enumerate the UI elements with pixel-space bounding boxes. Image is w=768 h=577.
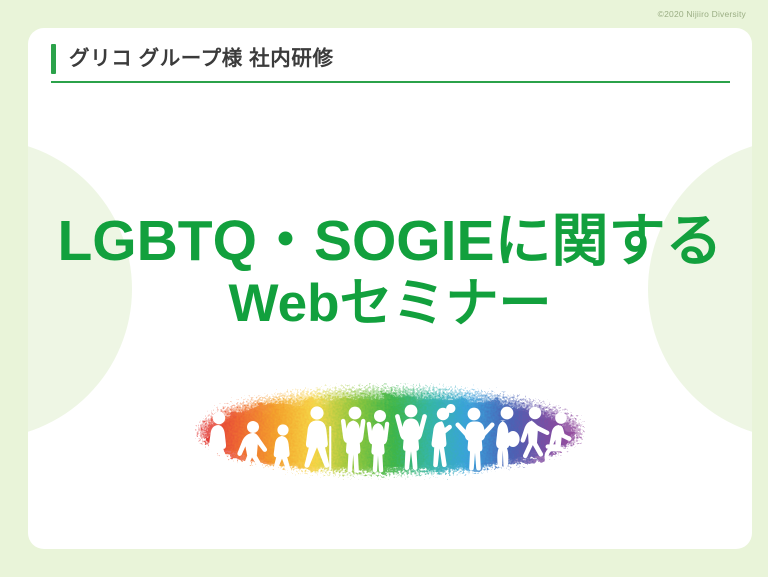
main-title-line-2: Webセミナー	[28, 274, 752, 333]
slide-header: グリコ グループ様 社内研修	[51, 44, 728, 83]
header-accent-bar	[51, 44, 56, 74]
slide-canvas: ©2020 Nijiiro Diversity グリコ グループ様 社内研修 L…	[0, 0, 768, 577]
header-row: グリコ グループ様 社内研修	[51, 44, 728, 74]
rainbow-diversity-people-illustration	[195, 383, 585, 481]
card-content: グリコ グループ様 社内研修 LGBTQ・SOGIEに関する Webセミナー	[28, 28, 752, 549]
main-title: LGBTQ・SOGIEに関する Webセミナー	[28, 210, 752, 333]
header-title: グリコ グループ様 社内研修	[69, 49, 334, 70]
slide-card: グリコ グループ様 社内研修 LGBTQ・SOGIEに関する Webセミナー	[28, 28, 752, 549]
header-underline	[51, 81, 730, 83]
main-title-line-1: LGBTQ・SOGIEに関する	[28, 210, 752, 274]
copyright-notice: ©2020 Nijiiro Diversity	[658, 9, 746, 19]
